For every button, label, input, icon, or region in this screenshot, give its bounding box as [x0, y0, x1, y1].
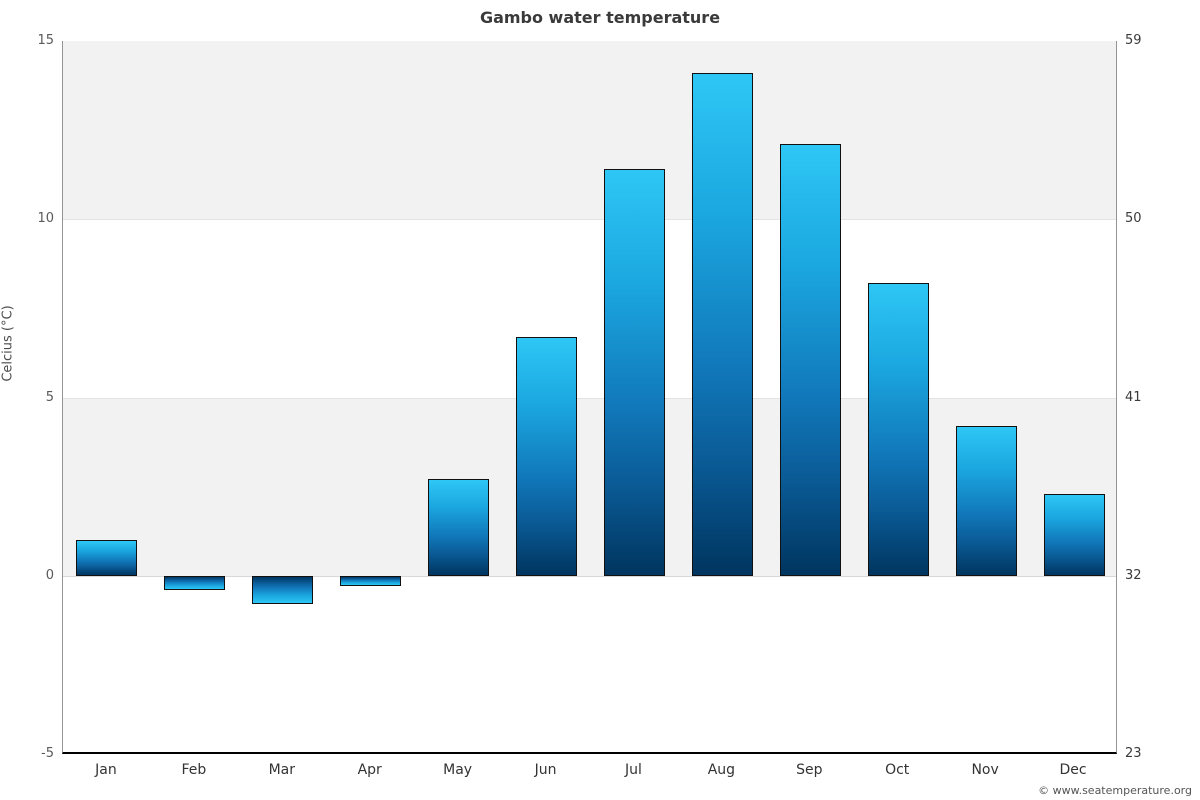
bar-series [63, 41, 1116, 752]
x-tick-apr: Apr [330, 762, 410, 778]
bar-apr[interactable] [340, 576, 401, 587]
bar-dec[interactable] [1044, 494, 1105, 576]
bar-jul[interactable] [604, 169, 665, 575]
x-tick-jan: Jan [66, 762, 146, 778]
y-tick-right: 32 [1125, 569, 1171, 582]
y-tick-right: 50 [1125, 212, 1171, 225]
copyright-credit: © www.seatemperature.org [1038, 784, 1192, 797]
bar-jun[interactable] [516, 337, 577, 576]
bar-jan[interactable] [76, 540, 137, 576]
plot-area [62, 41, 1117, 754]
bar-mar[interactable] [252, 576, 313, 605]
y-tick-right: 59 [1125, 34, 1171, 47]
x-tick-nov: Nov [945, 762, 1025, 778]
bar-aug[interactable] [692, 73, 753, 576]
y-tick-left: -5 [8, 747, 54, 760]
y-tick-left: 10 [8, 212, 54, 225]
x-tick-mar: Mar [242, 762, 322, 778]
x-tick-jul: Jul [593, 762, 673, 778]
bar-nov[interactable] [956, 426, 1017, 576]
y-axis-left-label: Celcius (°C) [1, 254, 16, 434]
y-tick-left: 0 [8, 569, 54, 582]
bar-may[interactable] [428, 479, 489, 575]
y-tick-right: 23 [1125, 747, 1171, 760]
bar-feb[interactable] [164, 576, 225, 590]
x-tick-oct: Oct [857, 762, 937, 778]
x-tick-feb: Feb [154, 762, 234, 778]
x-tick-may: May [418, 762, 498, 778]
x-tick-sep: Sep [769, 762, 849, 778]
bar-sep[interactable] [780, 144, 841, 575]
bar-oct[interactable] [868, 283, 929, 575]
x-tick-aug: Aug [681, 762, 761, 778]
y-tick-right: 41 [1125, 391, 1171, 404]
chart-page: Gambo water temperature 151050-5 5950413… [0, 0, 1200, 800]
x-tick-jun: Jun [506, 762, 586, 778]
page-title: Gambo water temperature [0, 8, 1200, 27]
x-tick-dec: Dec [1033, 762, 1113, 778]
y-tick-left: 15 [8, 34, 54, 47]
